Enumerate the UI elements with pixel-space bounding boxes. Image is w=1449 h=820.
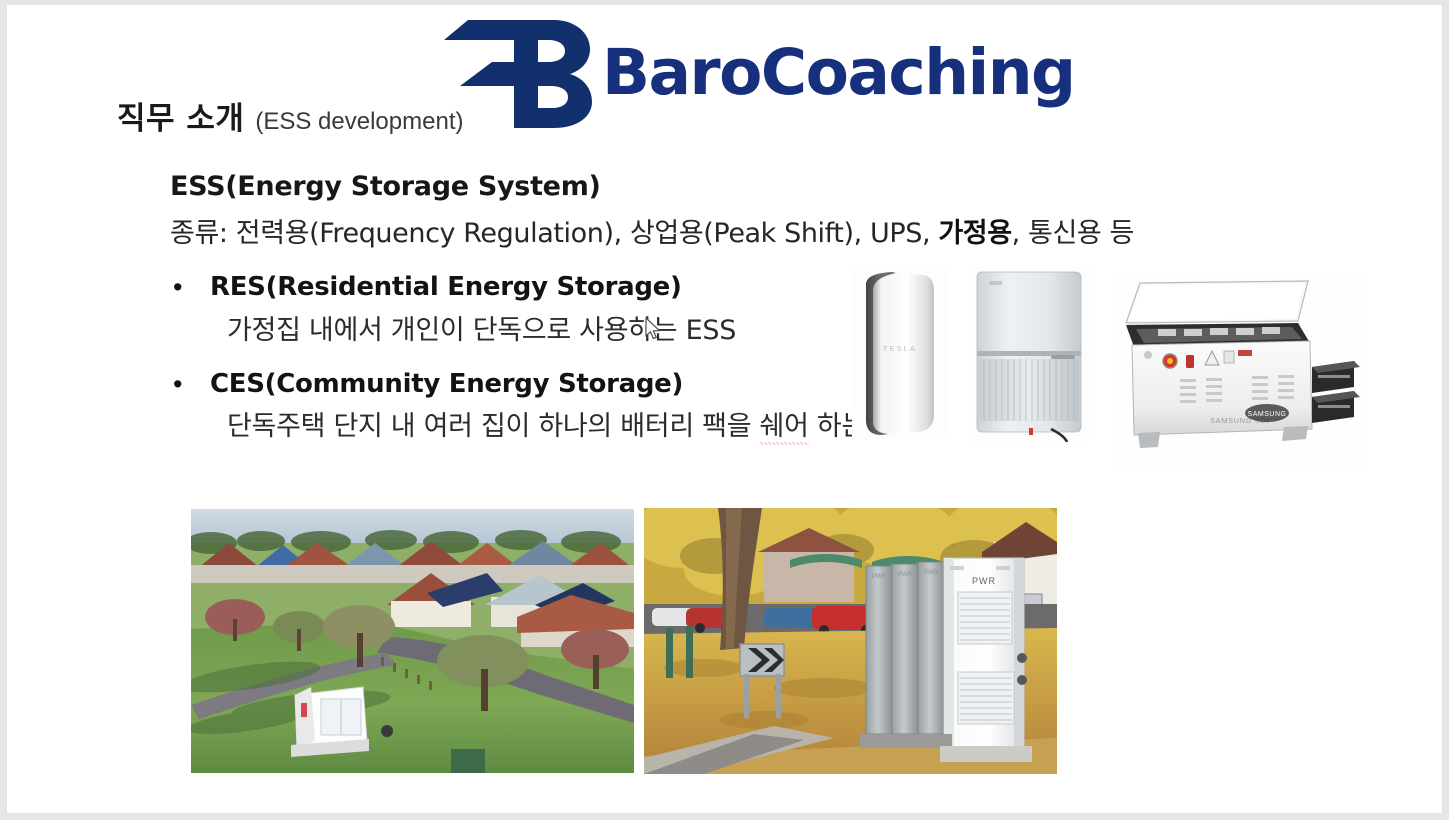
bullet-marker-icon: • [170, 273, 210, 303]
bullet-ces-title: CES(Community Energy Storage) [210, 370, 683, 399]
brand-wordmark: BaroCoaching [602, 41, 1075, 104]
page-title-korean: 직무 소개 [117, 93, 244, 138]
bullet-marker-icon: • [170, 370, 210, 400]
samsung-sdi-container-photo: SAMSUNG SDI SAMSUNG [1112, 275, 1367, 467]
svg-text:PWR: PWR [898, 572, 913, 578]
bullet-ces-desc-before: 단독주택 단지 내 여러 집이 하나의 배터리 팩을 [227, 411, 760, 442]
page-title-english: (ESS development) [255, 108, 463, 136]
svg-text:SAMSUNG: SAMSUNG [1248, 411, 1287, 418]
brand-header: BaroCoaching [442, 17, 1075, 127]
page-title: 직무 소개 (ESS development) [117, 93, 463, 138]
svg-text:PWR: PWR [872, 574, 887, 580]
spellcheck-underlined-word: 쉐어 [760, 411, 809, 445]
svg-text:TESLA: TESLA [883, 346, 917, 353]
barocoaching-b-logo-icon [442, 16, 592, 128]
presentation-viewer-frame: BaroCoaching 직무 소개 (ESS development) ESS… [0, 0, 1449, 820]
svg-text:PWR: PWR [924, 570, 939, 576]
ess-types-suffix: , 통신용 등 [1012, 218, 1134, 249]
suburban-aerial-community-battery-photo [191, 509, 634, 773]
street-community-battery-cabinets-photo: PWRPWRPWR PWR [644, 508, 1057, 774]
bullet-res-title: RES(Residential Energy Storage) [210, 273, 682, 302]
wall-mounted-battery-photo [969, 267, 1089, 442]
ess-types-emphasis: 가정용 [938, 218, 1011, 249]
ess-types-prefix: 종류: 전력용(Frequency Regulation), 상업용(Peak … [170, 218, 938, 249]
slide-canvas: BaroCoaching 직무 소개 (ESS development) ESS… [7, 5, 1442, 813]
svg-text:PWR: PWR [972, 576, 996, 586]
tesla-powerwall-photo: TESLA [852, 269, 947, 439]
ess-types-line: 종류: 전력용(Frequency Regulation), 상업용(Peak … [170, 219, 1290, 249]
ess-heading: ESS(Energy Storage System) [170, 173, 1290, 201]
